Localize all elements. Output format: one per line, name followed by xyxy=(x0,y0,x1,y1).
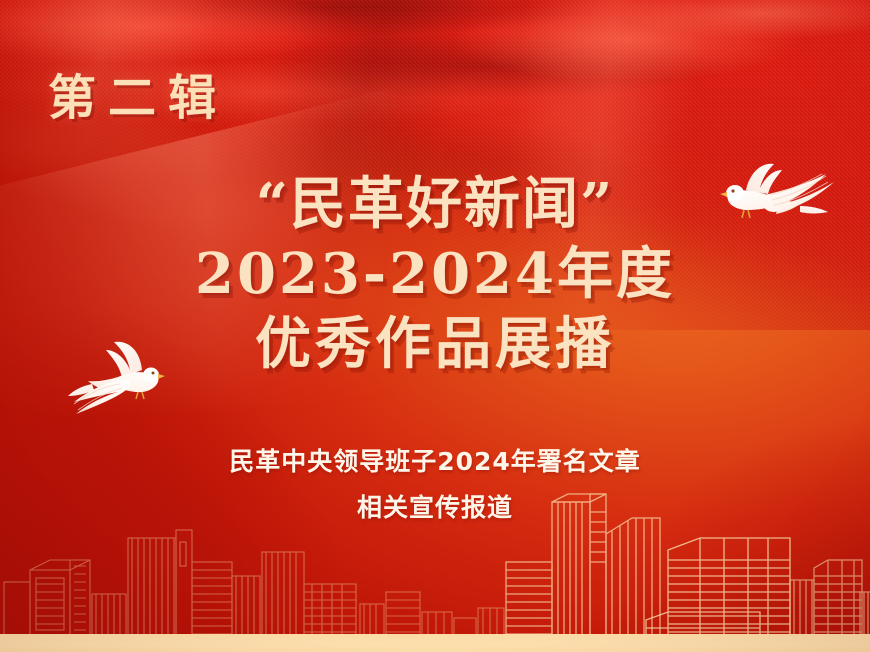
subtitle-line-1: 民革中央领导班子2024年署名文章 xyxy=(0,448,870,476)
title-line-3: 优秀作品展播 xyxy=(0,316,870,372)
main-title: “民革好新闻” 2023-2024年度 优秀作品展播 xyxy=(0,176,870,372)
poster-canvas: 第二辑 “民革好新闻” 2023-2024年度 优秀作品展播 民革中央领导班子2… xyxy=(0,0,870,652)
title-line-2: 2023-2024年度 xyxy=(0,246,870,302)
ground-band xyxy=(0,634,870,652)
title-line-1: “民革好新闻” xyxy=(0,176,870,232)
edition-label: 第二辑 xyxy=(48,58,228,128)
subtitle-line-2: 相关宣传报道 xyxy=(0,494,870,522)
subtitle: 民革中央领导班子2024年署名文章 相关宣传报道 xyxy=(0,448,870,521)
